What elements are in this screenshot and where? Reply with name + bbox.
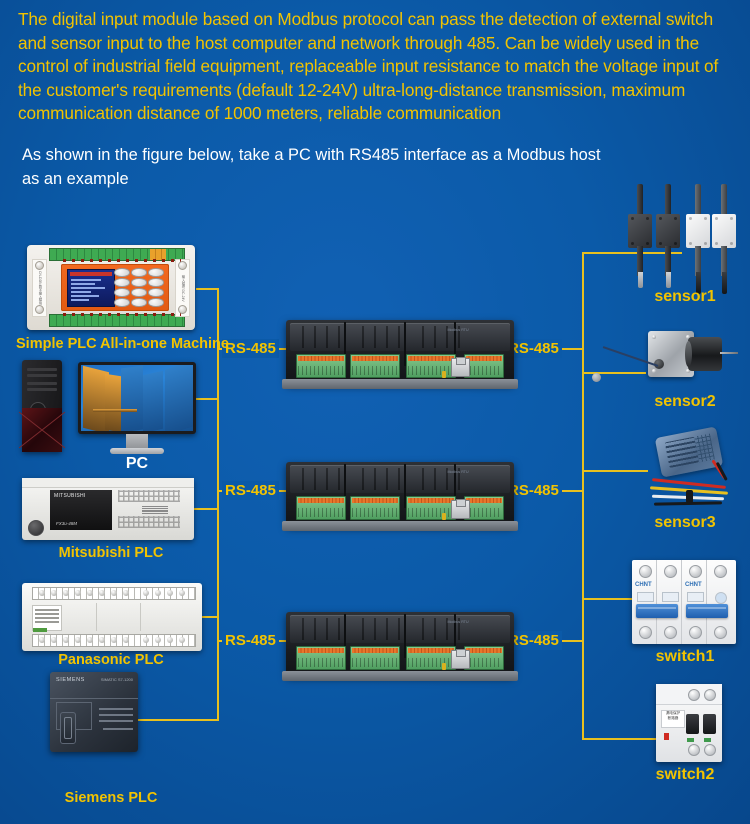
breaker-toggle-group-b[interactable] bbox=[686, 604, 728, 618]
lcd-screen bbox=[67, 269, 115, 307]
modbus-module-2: Modbus RTU bbox=[286, 462, 514, 526]
rcbo-label: 漏电保护断路器 bbox=[661, 710, 685, 728]
front-panel bbox=[61, 264, 169, 311]
rs485-label-left-1: RS-485 bbox=[222, 339, 279, 358]
status-leds bbox=[142, 506, 168, 514]
terminal-row-bottom bbox=[32, 634, 196, 647]
left-bus-trunk bbox=[217, 288, 219, 720]
breaker-pole-4 bbox=[707, 560, 732, 644]
led-row-bottom bbox=[63, 313, 181, 316]
chnt-brand-2: CHNT bbox=[685, 582, 702, 588]
caption-switch2: switch2 bbox=[630, 766, 740, 784]
device-pc-tower bbox=[22, 360, 62, 452]
left-branch-mitsubishi bbox=[194, 508, 219, 510]
terminal-block-4 bbox=[464, 496, 504, 520]
caption-switch1: switch1 bbox=[630, 648, 740, 666]
monitor-wallpaper bbox=[81, 365, 193, 431]
right-branch-sensor2 bbox=[582, 372, 646, 374]
device-sensor1 bbox=[628, 182, 740, 292]
status-indicator-1 bbox=[687, 738, 694, 742]
io-grid-top bbox=[118, 490, 180, 502]
chnt-brand: CHNT bbox=[635, 582, 652, 588]
caption-panasonic-plc: Panasonic PLC bbox=[16, 652, 206, 668]
power-led bbox=[442, 513, 446, 520]
rcbo-toggle-2[interactable] bbox=[703, 714, 716, 734]
rj45-port[interactable] bbox=[451, 500, 470, 519]
breaker-pole-1: CHNT bbox=[632, 560, 657, 644]
terminal-block-4 bbox=[464, 646, 504, 670]
siemens-brand: SIEMENS bbox=[56, 677, 85, 683]
description-paragraph-1: The digital input module based on Modbus… bbox=[18, 8, 734, 126]
right-bus-trunk bbox=[582, 252, 584, 739]
status-indicator-2 bbox=[704, 738, 711, 742]
left-branch-panasonic bbox=[202, 616, 219, 618]
probe-unit-3 bbox=[686, 184, 710, 292]
caption-siemens-plc: Siemens PLC bbox=[16, 790, 206, 806]
probe-unit-4 bbox=[712, 184, 736, 292]
test-button[interactable] bbox=[664, 733, 669, 740]
rs485-label-left-3: RS-485 bbox=[222, 631, 279, 650]
caption-sensor2: sensor2 bbox=[630, 393, 740, 411]
rj45-port[interactable] bbox=[451, 358, 470, 377]
cable-clip bbox=[686, 490, 693, 503]
left-branch-siemens bbox=[138, 719, 219, 721]
terminal-block-1 bbox=[296, 354, 346, 378]
device-switch2: 漏电保护断路器 bbox=[656, 684, 722, 762]
encoder-shaft bbox=[720, 352, 738, 354]
breaker-pole-3: CHNT bbox=[682, 560, 707, 644]
terminal-row-top bbox=[32, 587, 196, 600]
io-grid-bottom bbox=[118, 516, 180, 528]
device-siemens-plc: SIEMENS SIMATIC S7-1200 bbox=[50, 672, 138, 752]
breaker-toggle-group-a[interactable] bbox=[636, 604, 678, 618]
breaker-pole-2 bbox=[657, 560, 682, 644]
power-led bbox=[442, 663, 446, 670]
caption-mitsubishi-plc: Mitsubishi PLC bbox=[16, 545, 206, 561]
siemens-model: SIMATIC S7-1200 bbox=[101, 677, 133, 682]
terminal-block-2 bbox=[350, 354, 400, 378]
probe-unit-1 bbox=[628, 184, 652, 292]
led-row-top bbox=[63, 259, 181, 262]
encoder-drum bbox=[688, 337, 722, 371]
humidity-sensor-body bbox=[655, 426, 723, 477]
right-branch-sensor3 bbox=[582, 470, 648, 472]
module-logo: Modbus RTU bbox=[438, 470, 478, 482]
terminal-block-1 bbox=[296, 496, 346, 520]
device-sensor2 bbox=[648, 325, 740, 389]
rs485-label-left-2: RS-485 bbox=[222, 481, 279, 500]
device-plc-all-in-one: CN-D2B 数字输入模块 输入模块 DC-24V bbox=[27, 245, 195, 330]
panasonic-brand-mark bbox=[33, 628, 47, 632]
device-switch1: CHNT CHNT bbox=[632, 560, 736, 644]
terminal-block-3 bbox=[406, 646, 456, 670]
pc-front-panel bbox=[22, 408, 62, 452]
module-logo: Modbus RTU bbox=[438, 620, 478, 632]
device-sensor3 bbox=[650, 432, 744, 518]
terminal-block-3 bbox=[406, 354, 456, 378]
programming-port[interactable] bbox=[28, 520, 44, 536]
device-pc-monitor bbox=[78, 362, 196, 434]
caption-pc: PC bbox=[78, 455, 196, 473]
monitor-base bbox=[110, 448, 164, 454]
left-branch-pc bbox=[196, 398, 219, 400]
terminal-block-2 bbox=[350, 496, 400, 520]
mitsubishi-model: FX3u-48M bbox=[56, 521, 77, 526]
mitsubishi-faceplate: MITSUBISHI FX3u-48M bbox=[50, 490, 112, 530]
caption-sensor1: sensor1 bbox=[630, 288, 740, 306]
caption-sensor3: sensor3 bbox=[630, 514, 740, 532]
caption-plc-all-in-one: Simple PLC All-in-one Machine bbox=[16, 336, 206, 352]
probe-unit-2 bbox=[656, 184, 680, 292]
right-branch-switch1 bbox=[582, 598, 632, 600]
rcbo-toggle-1[interactable] bbox=[686, 714, 699, 734]
terminal-block-4 bbox=[464, 354, 504, 378]
power-led bbox=[442, 371, 446, 378]
siemens-connector[interactable] bbox=[60, 712, 76, 744]
modbus-module-3: Modbus RTU bbox=[286, 612, 514, 676]
modbus-module-1: Modbus RTU bbox=[286, 320, 514, 384]
left-branch-plc1 bbox=[196, 288, 219, 290]
terminal-block-2 bbox=[350, 646, 400, 670]
rj45-port[interactable] bbox=[451, 650, 470, 669]
device-mitsubishi-plc: MITSUBISHI FX3u-48M bbox=[22, 478, 194, 540]
infographic-canvas: The digital input module based on Modbus… bbox=[0, 0, 750, 824]
keypad[interactable] bbox=[114, 268, 164, 307]
encoder-plug bbox=[592, 373, 601, 382]
terminal-block-1 bbox=[296, 646, 346, 670]
module-logo: Modbus RTU bbox=[438, 328, 478, 340]
mitsubishi-brand: MITSUBISHI bbox=[54, 493, 86, 499]
device-panasonic-plc bbox=[22, 583, 202, 651]
description-paragraph-2: As shown in the figure below, take a PC … bbox=[22, 143, 622, 191]
terminal-block-3 bbox=[406, 496, 456, 520]
